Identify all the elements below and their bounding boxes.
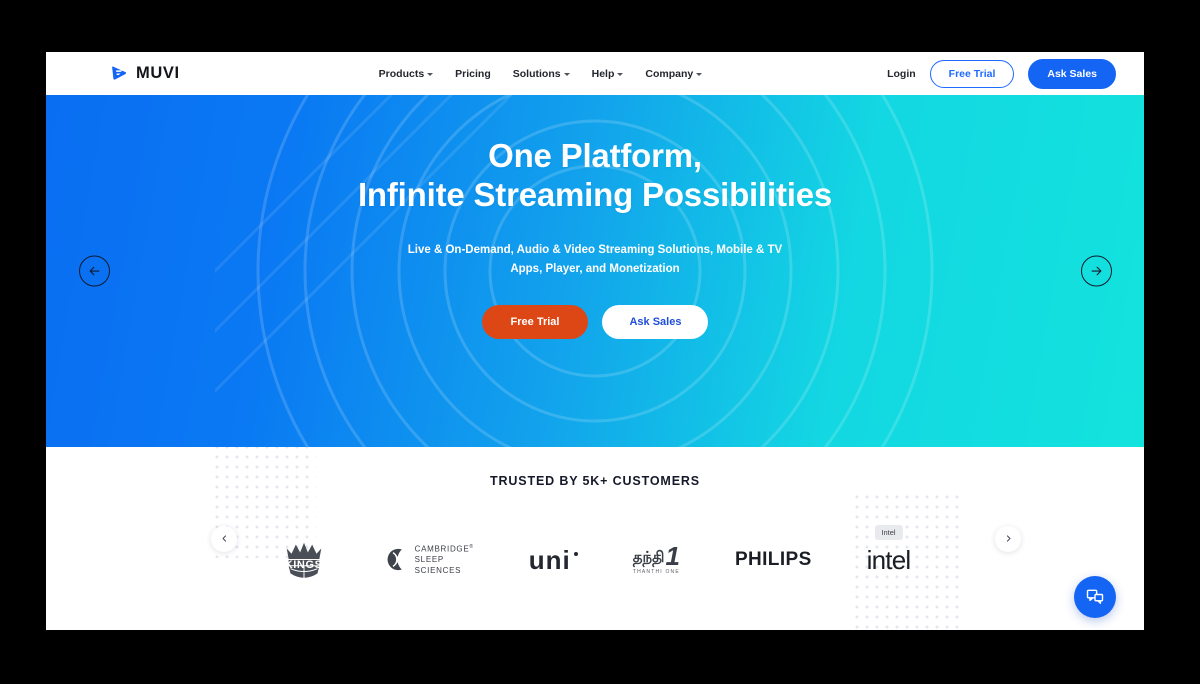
nav-item-products[interactable]: Products	[379, 68, 434, 80]
customer-logo-intel[interactable]: Intel intel	[867, 532, 911, 588]
logo-carousel-prev-button[interactable]	[211, 526, 237, 552]
philips-wordmark: PHILIPS	[735, 549, 812, 571]
thanthi-numeral: 1	[665, 545, 679, 567]
customer-logo-thanthi-one[interactable]: தந்தி 1 THANTHI ONE	[633, 532, 680, 588]
customer-logo-cambridge-sleep-sciences[interactable]: CAMBRIDGE® SLEEP SCIENCES	[383, 532, 474, 588]
header-actions: Login Free Trial Ask Sales	[887, 59, 1116, 89]
hero-subtitle-line-2: Apps, Player, and Monetization	[510, 263, 679, 275]
uni-dot-icon	[574, 552, 578, 556]
primary-navigation: Products Pricing Solutions Help Company	[379, 68, 703, 80]
thanthi-sub-wordmark: THANTHI ONE	[633, 569, 680, 575]
nav-item-help[interactable]: Help	[592, 68, 624, 80]
trusted-by-section: TRUSTED BY 5K+ CUSTOMERS SACRAMENTO KING…	[46, 447, 1144, 630]
nav-label: Products	[379, 68, 425, 80]
customer-logo-sacramento-kings[interactable]: SACRAMENTO KINGS	[280, 532, 328, 588]
nav-item-solutions[interactable]: Solutions	[513, 68, 570, 80]
hero-title-line-2: Infinite Streaming Possibilities	[358, 176, 832, 213]
csleep-line-3: SCIENCES	[415, 566, 474, 577]
arrow-right-icon	[1089, 264, 1104, 279]
thanthi-tamil-wordmark: தந்தி	[633, 549, 665, 568]
cambridge-sleep-wordmark: CAMBRIDGE® SLEEP SCIENCES	[415, 544, 474, 576]
hero-content: One Platform, Infinite Streaming Possibi…	[46, 95, 1144, 339]
nav-label: Solutions	[513, 68, 561, 80]
chat-widget-button[interactable]	[1074, 576, 1116, 618]
kings-wordmark: KINGS	[280, 559, 328, 571]
brand-name: MUVI	[136, 64, 180, 83]
hero-banner: One Platform, Infinite Streaming Possibi…	[46, 95, 1144, 447]
header-ask-sales-button[interactable]: Ask Sales	[1028, 59, 1116, 89]
uni-wordmark: uni	[529, 545, 571, 576]
hero-next-button[interactable]	[1081, 256, 1112, 287]
nav-item-pricing[interactable]: Pricing	[455, 68, 491, 80]
brand-logo[interactable]: MUVI	[110, 64, 180, 83]
kings-top-text: SACRAMENTO	[280, 539, 328, 544]
header-free-trial-button[interactable]: Free Trial	[930, 60, 1015, 88]
site-header: MUVI Products Pricing Solutions Help Com…	[46, 52, 1144, 95]
chevron-down-icon	[617, 73, 623, 76]
chevron-right-icon	[1004, 534, 1013, 543]
chevron-down-icon	[696, 73, 702, 76]
chevron-down-icon	[564, 73, 570, 76]
hero-title-line-1: One Platform,	[488, 137, 702, 174]
hero-subtitle-line-1: Live & On-Demand, Audio & Video Streamin…	[408, 244, 782, 256]
nav-label: Help	[592, 68, 615, 80]
hero-free-trial-button[interactable]: Free Trial	[482, 305, 589, 339]
arrow-left-icon	[87, 264, 102, 279]
chevron-left-icon	[220, 534, 229, 543]
trusted-by-title: TRUSTED BY 5K+ CUSTOMERS	[46, 447, 1144, 488]
hero-subtitle: Live & On-Demand, Audio & Video Streamin…	[46, 241, 1144, 279]
csleep-trademark: ®	[469, 544, 473, 550]
nav-item-company[interactable]: Company	[645, 68, 702, 80]
chat-bubbles-icon	[1085, 587, 1105, 607]
muvi-play-mark-icon	[110, 64, 129, 83]
login-link[interactable]: Login	[887, 68, 916, 80]
hero-prev-button[interactable]	[79, 256, 110, 287]
intel-tooltip-badge: Intel	[874, 525, 902, 540]
intel-wordmark: intel	[867, 545, 911, 576]
hero-cta-group: Free Trial Ask Sales	[46, 305, 1144, 339]
csleep-line-2: SLEEP	[415, 555, 474, 566]
customer-logo-philips[interactable]: PHILIPS	[735, 532, 812, 588]
csleep-line-1: CAMBRIDGE	[415, 545, 470, 554]
hero-ask-sales-button[interactable]: Ask Sales	[602, 305, 708, 339]
browser-page: MUVI Products Pricing Solutions Help Com…	[46, 52, 1144, 630]
cambridge-sleep-waves-icon	[383, 547, 408, 572]
chevron-down-icon	[427, 73, 433, 76]
customer-logo-uni[interactable]: uni	[529, 532, 578, 588]
logo-carousel-next-button[interactable]	[995, 526, 1021, 552]
nav-label: Company	[645, 68, 693, 80]
nav-label: Pricing	[455, 68, 491, 80]
hero-title: One Platform, Infinite Streaming Possibi…	[46, 137, 1144, 215]
